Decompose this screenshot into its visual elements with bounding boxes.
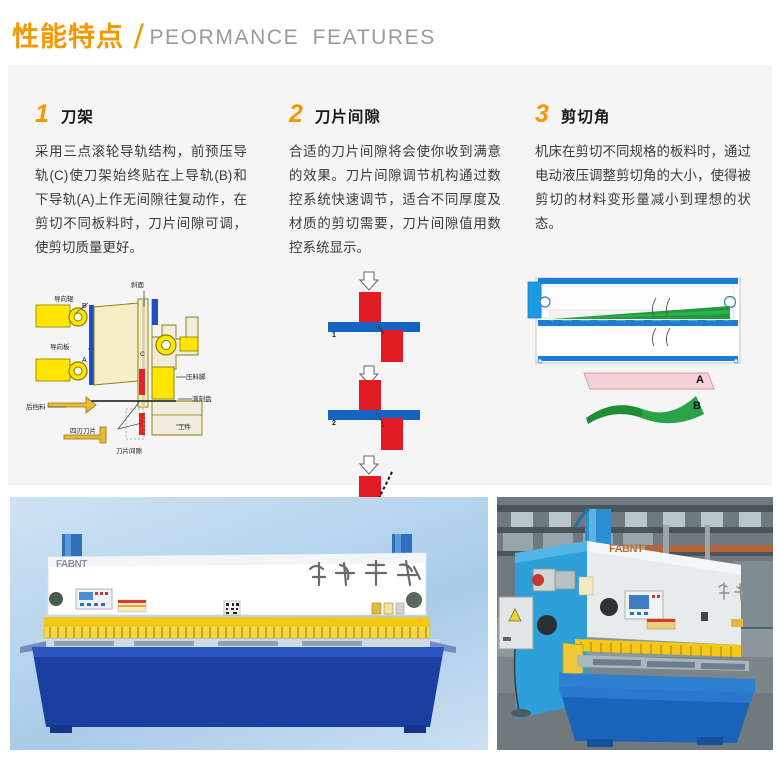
shear-angle-diagram: A B (518, 270, 758, 425)
stage-number-1: 1 (332, 332, 336, 339)
page-root: 性能特点 / PEORMANCE FEATURES 1 刀架 采用三点滚轮导轨结… (0, 0, 780, 760)
shearing-machine-studio-photo: FABNT (10, 497, 488, 750)
blade-carriage-diagram: 斜面 导向辊 B 导向板 A C 压料脚 测刻盘 后挡料 四刃刀片 工件 刀片间… (26, 277, 256, 452)
feature-3-number: 3 (535, 102, 549, 126)
features-panel: 1 刀架 采用三点滚轮导轨结构，前预压导轨(C)使刀架始终贴在上导轨(B)和下导… (8, 65, 772, 485)
shearing-machine-factory-photo: FABNT (497, 497, 773, 750)
feature-1-body: 采用三点滚轮导轨结构，前预压导轨(C)使刀架始终贴在上导轨(B)和下导轨(A)上… (35, 140, 247, 260)
feature-1-number: 1 (35, 102, 49, 126)
diagram1-label-1: 导向辊 (54, 293, 74, 303)
diagram1-label-4: A (82, 357, 87, 364)
title-separator-slash: / (133, 20, 144, 54)
feature-column-3: 3 剪切角 机床在剪切不同规格的板料时，通过电动液压调整剪切角的大小，使得被剪切… (508, 65, 772, 485)
feature-3-heading: 3 剪切角 (535, 102, 772, 126)
page-header: 性能特点 / PEORMANCE FEATURES (12, 10, 436, 54)
shape-label-a: A (696, 374, 704, 386)
feature-3-body: 机床在剪切不同规格的板料时，通过电动液压调整剪切角的大小，使得被剪切的材料变形量… (535, 140, 751, 236)
diagram1-label-3: 导向板 (50, 341, 70, 351)
feature-column-1: 1 刀架 采用三点滚轮导轨结构，前预压导轨(C)使刀架始终贴在上导轨(B)和下导… (8, 65, 261, 485)
product-photos: FABNT (0, 497, 780, 752)
feature-1-title: 刀架 (61, 106, 94, 130)
diagram1-label-9: 四刃刀片 (70, 425, 96, 435)
diagram1-label-8: 后挡料 (26, 401, 46, 411)
blade-gap-stages-diagram: 1 2 3 (306, 270, 456, 460)
studio-photo-brand-logo: FABNT (56, 559, 87, 570)
feature-1-heading: 1 刀架 (35, 102, 261, 126)
page-title-en: PEORMANCE FEATURES (149, 22, 435, 54)
diagram1-label-2: B (82, 303, 87, 310)
diagram1-label-5: C (140, 351, 145, 358)
diagram1-label-11: 刀片间隙 (116, 445, 142, 455)
stage-number-2: 2 (332, 420, 336, 427)
feature-2-number: 2 (289, 102, 303, 126)
factory-photo-brand-logo: FABNT (609, 543, 643, 555)
diagram1-label-6: 压料脚 (186, 371, 206, 381)
feature-3-title: 剪切角 (561, 106, 611, 130)
shape-label-b: B (693, 400, 701, 412)
page-title-cn: 性能特点 (12, 20, 124, 54)
features-columns: 1 刀架 采用三点滚轮导轨结构，前预压导轨(C)使刀架始终贴在上导轨(B)和下导… (8, 65, 772, 485)
feature-2-body: 合适的刀片间隙将会使你收到满意的效果。刀片间隙调节机构通过数控系统快速调节，适合… (289, 140, 501, 260)
diagram1-label-0: 斜面 (131, 279, 144, 289)
feature-2-heading: 2 刀片间隙 (289, 102, 508, 126)
feature-column-2: 2 刀片间隙 合适的刀片间隙将会使你收到满意的效果。刀片间隙调节机构通过数控系统… (261, 65, 508, 485)
feature-2-title: 刀片间隙 (315, 106, 381, 130)
diagram1-label-10: 工件 (178, 421, 191, 431)
diagram1-label-7: 测刻盘 (192, 393, 212, 403)
